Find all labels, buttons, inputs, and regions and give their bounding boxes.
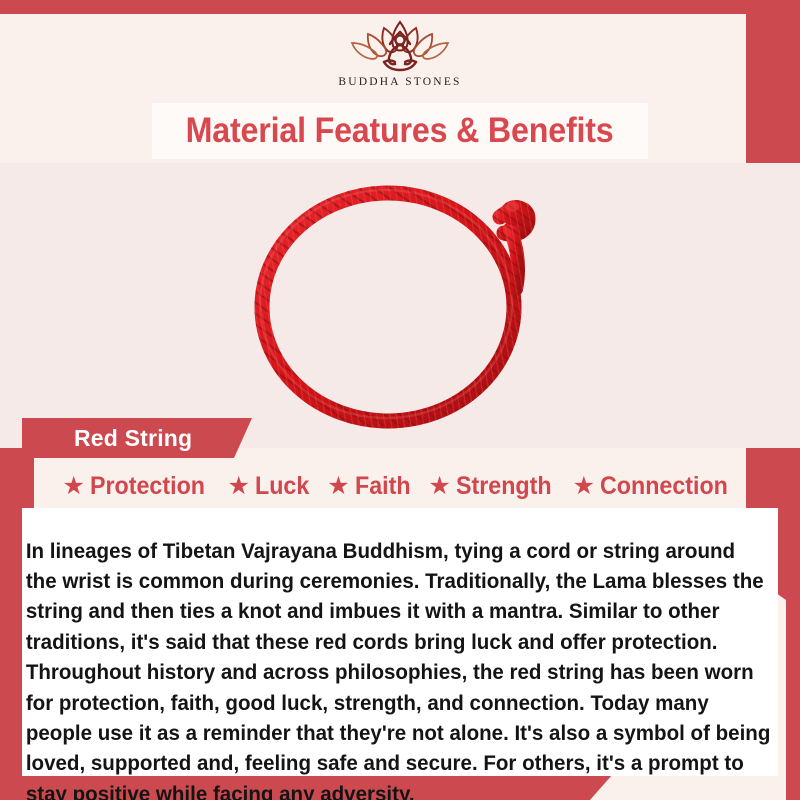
feature-item-luck: ★ Luck (228, 472, 314, 501)
page-title: Material Features & Benefits (186, 111, 614, 151)
feature-label: Faith (355, 472, 411, 501)
star-icon: ★ (573, 474, 595, 499)
page-title-box: Material Features & Benefits (152, 103, 648, 159)
feature-label: Protection (90, 472, 205, 501)
feature-label: Connection (600, 472, 728, 501)
star-icon: ★ (428, 474, 450, 499)
red-string-bracelet-photo (228, 163, 572, 447)
brand-logo: BUDDHA STONES (0, 14, 800, 100)
description-panel: In lineages of Tibetan Vajrayana Buddhis… (22, 508, 778, 776)
material-name-banner: Red String (22, 418, 252, 458)
feature-item-connection: ★ Connection (573, 472, 738, 501)
feature-item-strength: ★ Strength (428, 472, 558, 501)
feature-item-protection: ★ Protection (62, 472, 213, 501)
brand-name: BUDDHA STONES (338, 76, 461, 88)
infographic-page: BUDDHA STONES Material Features & Benefi… (0, 0, 800, 800)
star-icon: ★ (327, 474, 349, 499)
material-name-label: Red String (22, 425, 192, 452)
feature-label: Strength (456, 472, 552, 501)
star-icon: ★ (228, 474, 250, 499)
feature-item-faith: ★ Faith (327, 472, 414, 501)
feature-list: ★ Protection ★ Luck ★ Faith ★ Strength ★… (22, 466, 778, 506)
product-photo-band (0, 163, 800, 448)
description-text: In lineages of Tibetan Vajrayana Buddhis… (22, 536, 776, 800)
feature-label: Luck (255, 472, 309, 501)
lotus-meditation-icon (334, 14, 466, 74)
top-border-stripe (0, 0, 800, 14)
star-icon: ★ (62, 474, 84, 499)
